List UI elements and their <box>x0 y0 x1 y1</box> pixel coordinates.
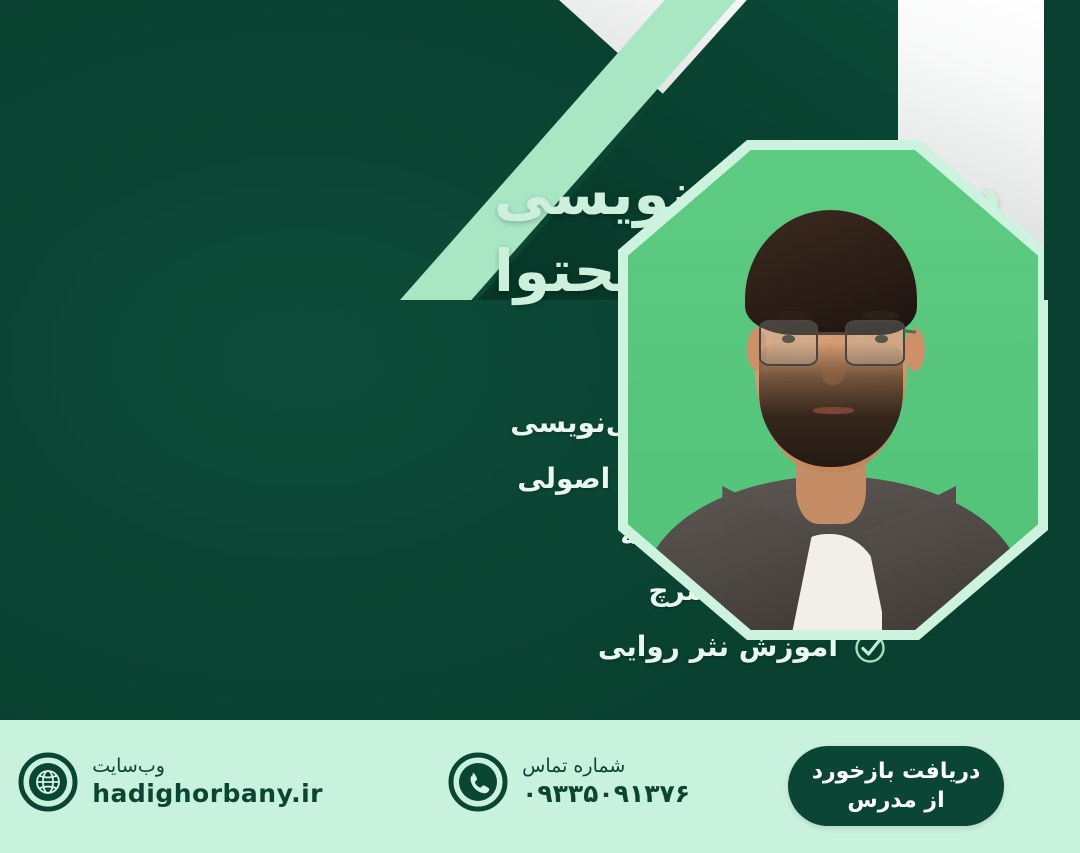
website-label: وب‌سایت <box>92 756 165 777</box>
glasses-lens-right <box>845 320 905 366</box>
website-contact-block[interactable]: وب‌سایت hadighorbany.ir <box>18 752 323 812</box>
glasses-lens-left <box>759 320 819 366</box>
website-text: وب‌سایت hadighorbany.ir <box>92 756 323 807</box>
cta-line-2: از مدرس <box>847 787 944 815</box>
website-url: hadighorbany.ir <box>92 780 323 808</box>
portrait-octagon-frame <box>618 140 1048 640</box>
phone-icon[interactable] <box>448 752 508 812</box>
feedback-cta-button[interactable]: دریافت بازخورد از مدرس <box>788 746 1004 826</box>
figure-ear-right <box>905 328 926 371</box>
figure-mouth <box>813 407 854 415</box>
globe-icon[interactable] <box>18 752 78 812</box>
figure-nose <box>821 352 846 386</box>
promo-poster: دوره مقاله‌نویسی و تولید محتوا آموزش پرو… <box>0 0 1080 853</box>
figure-eyebrow-right <box>862 311 899 321</box>
portrait-image <box>628 150 1038 630</box>
phone-number: ۰۹۳۳۵۰۹۱۳۷۶ <box>522 780 690 808</box>
right-dark-edge <box>1044 0 1080 300</box>
footer-bar: دریافت بازخورد از مدرس شماره تماس ۰۹۳۳۵۰… <box>0 720 1080 853</box>
glasses-bridge <box>818 332 845 335</box>
instructor-figure <box>628 150 1038 630</box>
glasses-temple <box>904 329 916 333</box>
phone-label: شماره تماس <box>522 756 625 777</box>
phone-text: شماره تماس ۰۹۳۳۵۰۹۱۳۷۶ <box>522 756 690 807</box>
phone-contact-block[interactable]: شماره تماس ۰۹۳۳۵۰۹۱۳۷۶ <box>448 752 690 812</box>
figure-eyebrow-left <box>774 311 811 321</box>
cta-line-1: دریافت بازخورد <box>812 758 981 786</box>
